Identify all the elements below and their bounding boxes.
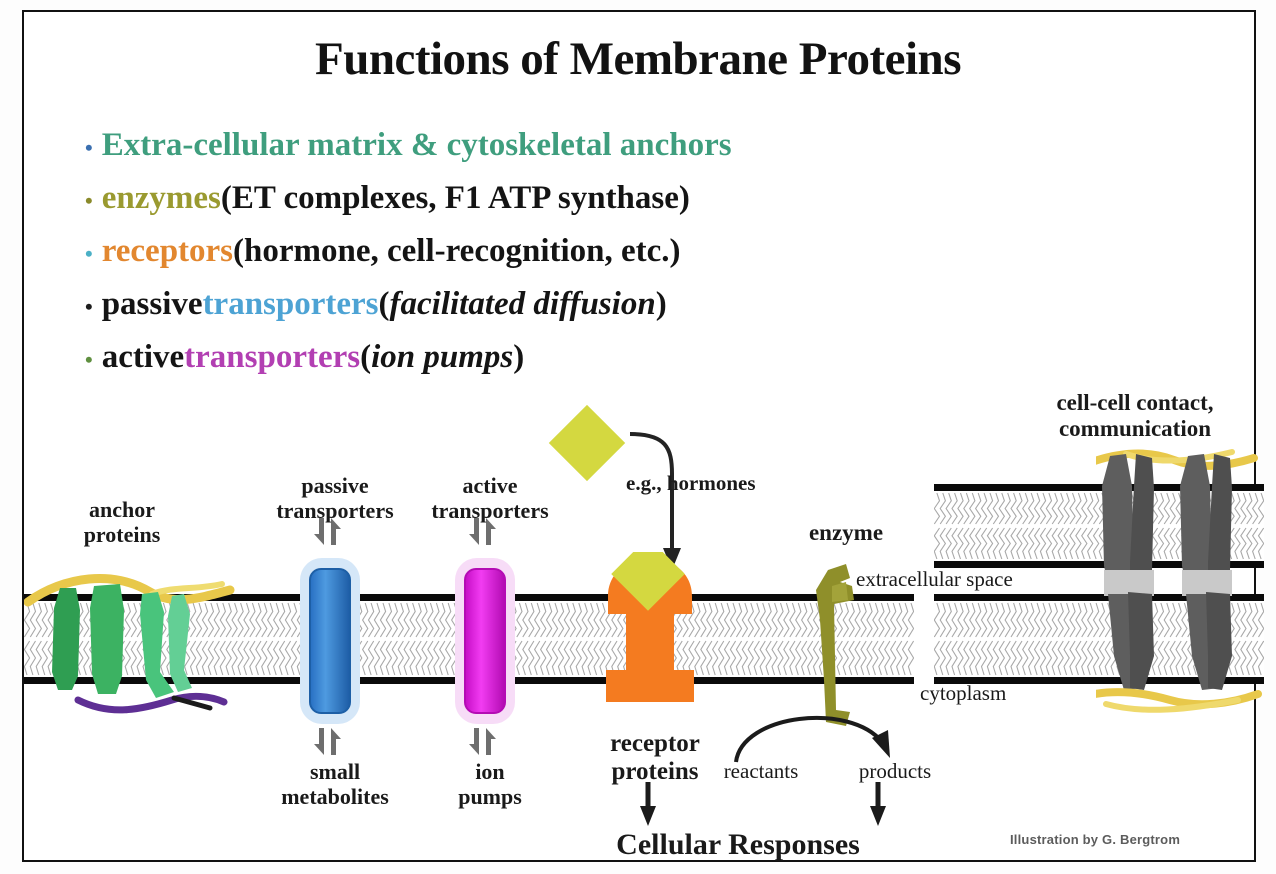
bullet-3-part-1: receptors [102, 226, 233, 277]
bullet-dot-icon: • [85, 228, 93, 279]
label-small-metabolites: small metabolites [250, 760, 420, 809]
page-title: Functions of Membrane Proteins [0, 32, 1276, 86]
label-cytoplasm: cytoplasm [920, 682, 1100, 706]
bullet-2-part-1: enzymes [102, 173, 221, 224]
bullet-item-3: •receptors (hormone, cell-recognition, e… [85, 226, 1145, 279]
bullet-4-part-2: transporters [203, 279, 379, 330]
bullet-5-part-5: ) [513, 332, 524, 383]
bullet-5-part-3: ( [360, 332, 371, 383]
active-transporter-channel [464, 568, 506, 714]
anchor-proteins-group [24, 550, 254, 730]
label-passive-transporters: passive transporters [255, 474, 415, 523]
label-reactants: reactants [696, 760, 826, 784]
active-transport-arrows-bottom [468, 726, 502, 756]
bullet-item-4: •passive transporters (facilitated diffu… [85, 279, 1145, 332]
bullet-1-part-1: Extra-cellular matrix & cytoskeletal anc… [102, 120, 732, 171]
bullet-3-part-2: (hormone, cell-recognition, etc.) [233, 226, 681, 277]
bullet-dot-icon: • [85, 334, 93, 385]
bullet-item-1: •Extra-cellular matrix & cytoskeletal an… [85, 120, 1145, 173]
bullet-4-part-3: ( [379, 279, 390, 330]
receptor-response-arrow [640, 782, 760, 830]
label-products: products [830, 760, 960, 784]
bullet-dot-icon: • [85, 122, 93, 173]
slide-root: Functions of Membrane Proteins •Extra-ce… [0, 0, 1276, 874]
bullet-2-part-2: (ET complexes, F1 ATP synthase) [221, 173, 690, 224]
label-ion-pumps: ion pumps [415, 760, 565, 809]
enzyme-response-arrow [870, 782, 990, 830]
label-enzyme: enzyme [786, 520, 906, 546]
junction-proteins-group [1096, 442, 1276, 732]
label-cell-cell-contact: cell-cell contact, communication [990, 390, 1276, 442]
bullet-5-part-1: active [102, 332, 184, 383]
bullet-dot-icon: • [85, 175, 93, 226]
bullet-4-part-4: facilitated diffusion [390, 279, 656, 330]
illustration-credit: Illustration by G. Bergtrom [1010, 832, 1180, 847]
passive-transport-arrows-bottom [313, 726, 347, 756]
label-extracellular-space: extracellular space [856, 568, 1086, 592]
bullet-4-part-1: passive [102, 279, 203, 330]
label-hormones: e.g., hormones [626, 472, 826, 496]
label-cellular-responses: Cellular Responses [528, 828, 948, 862]
bullet-5-part-2: transporters [184, 332, 360, 383]
bullet-item-2: •enzymes (ET complexes, F1 ATP synthase) [85, 173, 1145, 226]
bullet-item-5: •active transporters (ion pumps) [85, 332, 1145, 385]
passive-transporter-channel [309, 568, 351, 714]
label-anchor-proteins: anchor proteins [52, 498, 192, 547]
bullet-dot-icon: • [85, 281, 93, 332]
bullet-5-part-4: ion pumps [371, 332, 513, 383]
receptor-protein [588, 552, 718, 720]
bullet-4-part-5: ) [656, 279, 667, 330]
membrane-diagram: anchor proteins passive transporters sma… [0, 382, 1276, 874]
bullet-list: •Extra-cellular matrix & cytoskeletal an… [85, 120, 1145, 385]
label-active-transporters: active transporters [410, 474, 570, 523]
